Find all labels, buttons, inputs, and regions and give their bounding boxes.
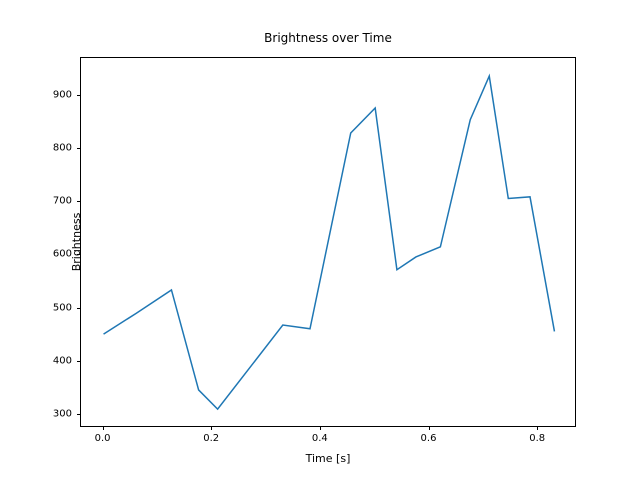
y-tick-label: 400 (32, 355, 72, 366)
matplotlib-figure: Brightness over Time Brightness 30040050… (0, 0, 640, 480)
x-tick-label: 0.6 (407, 433, 451, 444)
brightness-line-series (104, 76, 555, 409)
plot-area (80, 57, 576, 427)
x-axis-label: Time [s] (80, 452, 576, 465)
x-tick-label: 0.8 (515, 433, 559, 444)
y-tick-label: 600 (32, 249, 72, 260)
x-tick-label: 0.4 (298, 433, 342, 444)
plot-svg (81, 58, 577, 428)
x-tick-label: 0.0 (81, 433, 125, 444)
chart-title: Brightness over Time (80, 31, 576, 45)
y-tick-label: 700 (32, 196, 72, 207)
y-tick-label: 500 (32, 302, 72, 313)
y-tick-label: 800 (32, 142, 72, 153)
y-tick-label: 900 (32, 89, 72, 100)
y-tick-label: 300 (32, 408, 72, 419)
x-tick-label: 0.2 (189, 433, 233, 444)
